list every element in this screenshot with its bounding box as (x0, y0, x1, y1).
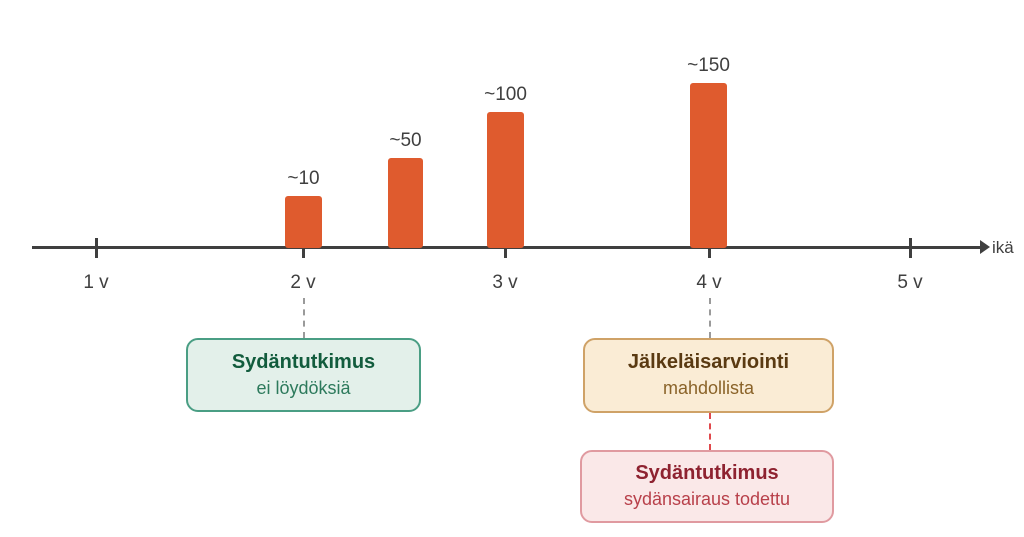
callout-subtitle: sydänsairaus todettu (624, 488, 790, 511)
connector-amber-to-red (709, 413, 711, 450)
bar-value-label: ~10 (244, 168, 364, 190)
axis-title: ikä (992, 238, 1014, 258)
bar (487, 112, 524, 248)
callout-subtitle: ei löydöksiä (256, 377, 350, 400)
timeline-chart: ikä 1 v2 v3 v4 v5 v ~10~50~100~150 Sydän… (0, 0, 1024, 537)
callout-title: Jälkeläisarviointi (628, 350, 789, 375)
axis-arrowhead-icon (980, 240, 990, 254)
callout-sydantutkimus-sairaus[interactable]: Sydäntutkimussydänsairaus todettu (580, 450, 834, 523)
axis-tick-label: 2 v (263, 272, 343, 294)
axis-tick-label: 3 v (465, 272, 545, 294)
bar-value-label: ~50 (346, 130, 466, 152)
callout-jalkelaisarviointi[interactable]: Jälkeläisarviointimahdollista (583, 338, 834, 413)
axis-tick-label: 5 v (870, 272, 950, 294)
axis-tick-label: 4 v (669, 272, 749, 294)
callout-sydantutkimus-normaali[interactable]: Sydäntutkimusei löydöksiä (186, 338, 421, 412)
axis-tick-mark (95, 238, 98, 258)
callout-subtitle: mahdollista (663, 377, 754, 400)
connector-tick-4v-to-amber (709, 298, 711, 338)
callout-title: Sydäntutkimus (635, 461, 778, 486)
bar (388, 158, 423, 248)
bar-value-label: ~150 (649, 55, 769, 77)
bar (285, 196, 322, 248)
axis-tick-label: 1 v (56, 272, 136, 294)
bar (690, 83, 727, 248)
axis-tick-mark (909, 238, 912, 258)
callout-title: Sydäntutkimus (232, 350, 375, 375)
bar-value-label: ~100 (446, 84, 566, 106)
connector-tick-2v-to-green (303, 298, 305, 338)
